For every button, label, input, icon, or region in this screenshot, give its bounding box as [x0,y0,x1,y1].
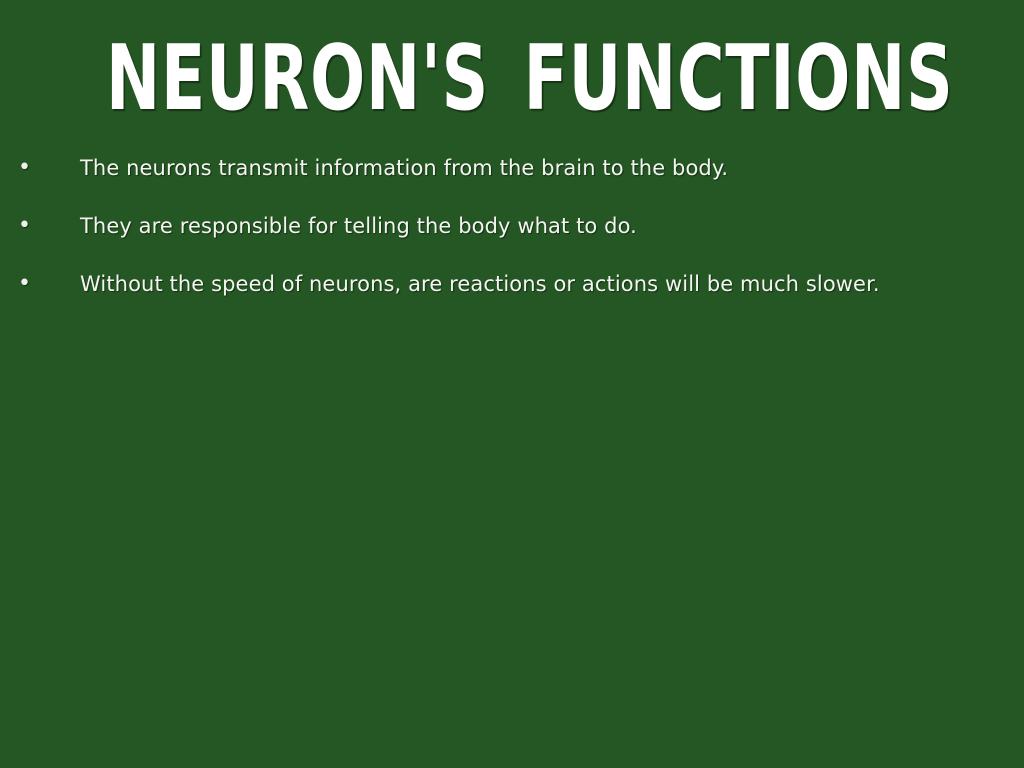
bullet-point-icon: • [0,210,80,242]
bullet-point-icon: • [0,268,80,300]
bullet-list: • The neurons transmit information from … [0,152,1024,326]
presentation-slide: NEURON'S FUNCTIONS • The neurons transmi… [0,0,1024,768]
bullet-text: The neurons transmit information from th… [80,152,1024,184]
page-title: NEURON'S FUNCTIONS [106,34,954,124]
list-item: • The neurons transmit information from … [0,152,1024,210]
title-block: NEURON'S FUNCTIONS [0,34,1024,124]
bullet-text: Without the speed of neurons, are reacti… [80,268,1024,300]
list-item: • They are responsible for telling the b… [0,210,1024,268]
bullet-text: They are responsible for telling the bod… [80,210,1024,242]
bullet-point-icon: • [0,152,80,184]
list-item: • Without the speed of neurons, are reac… [0,268,1024,326]
